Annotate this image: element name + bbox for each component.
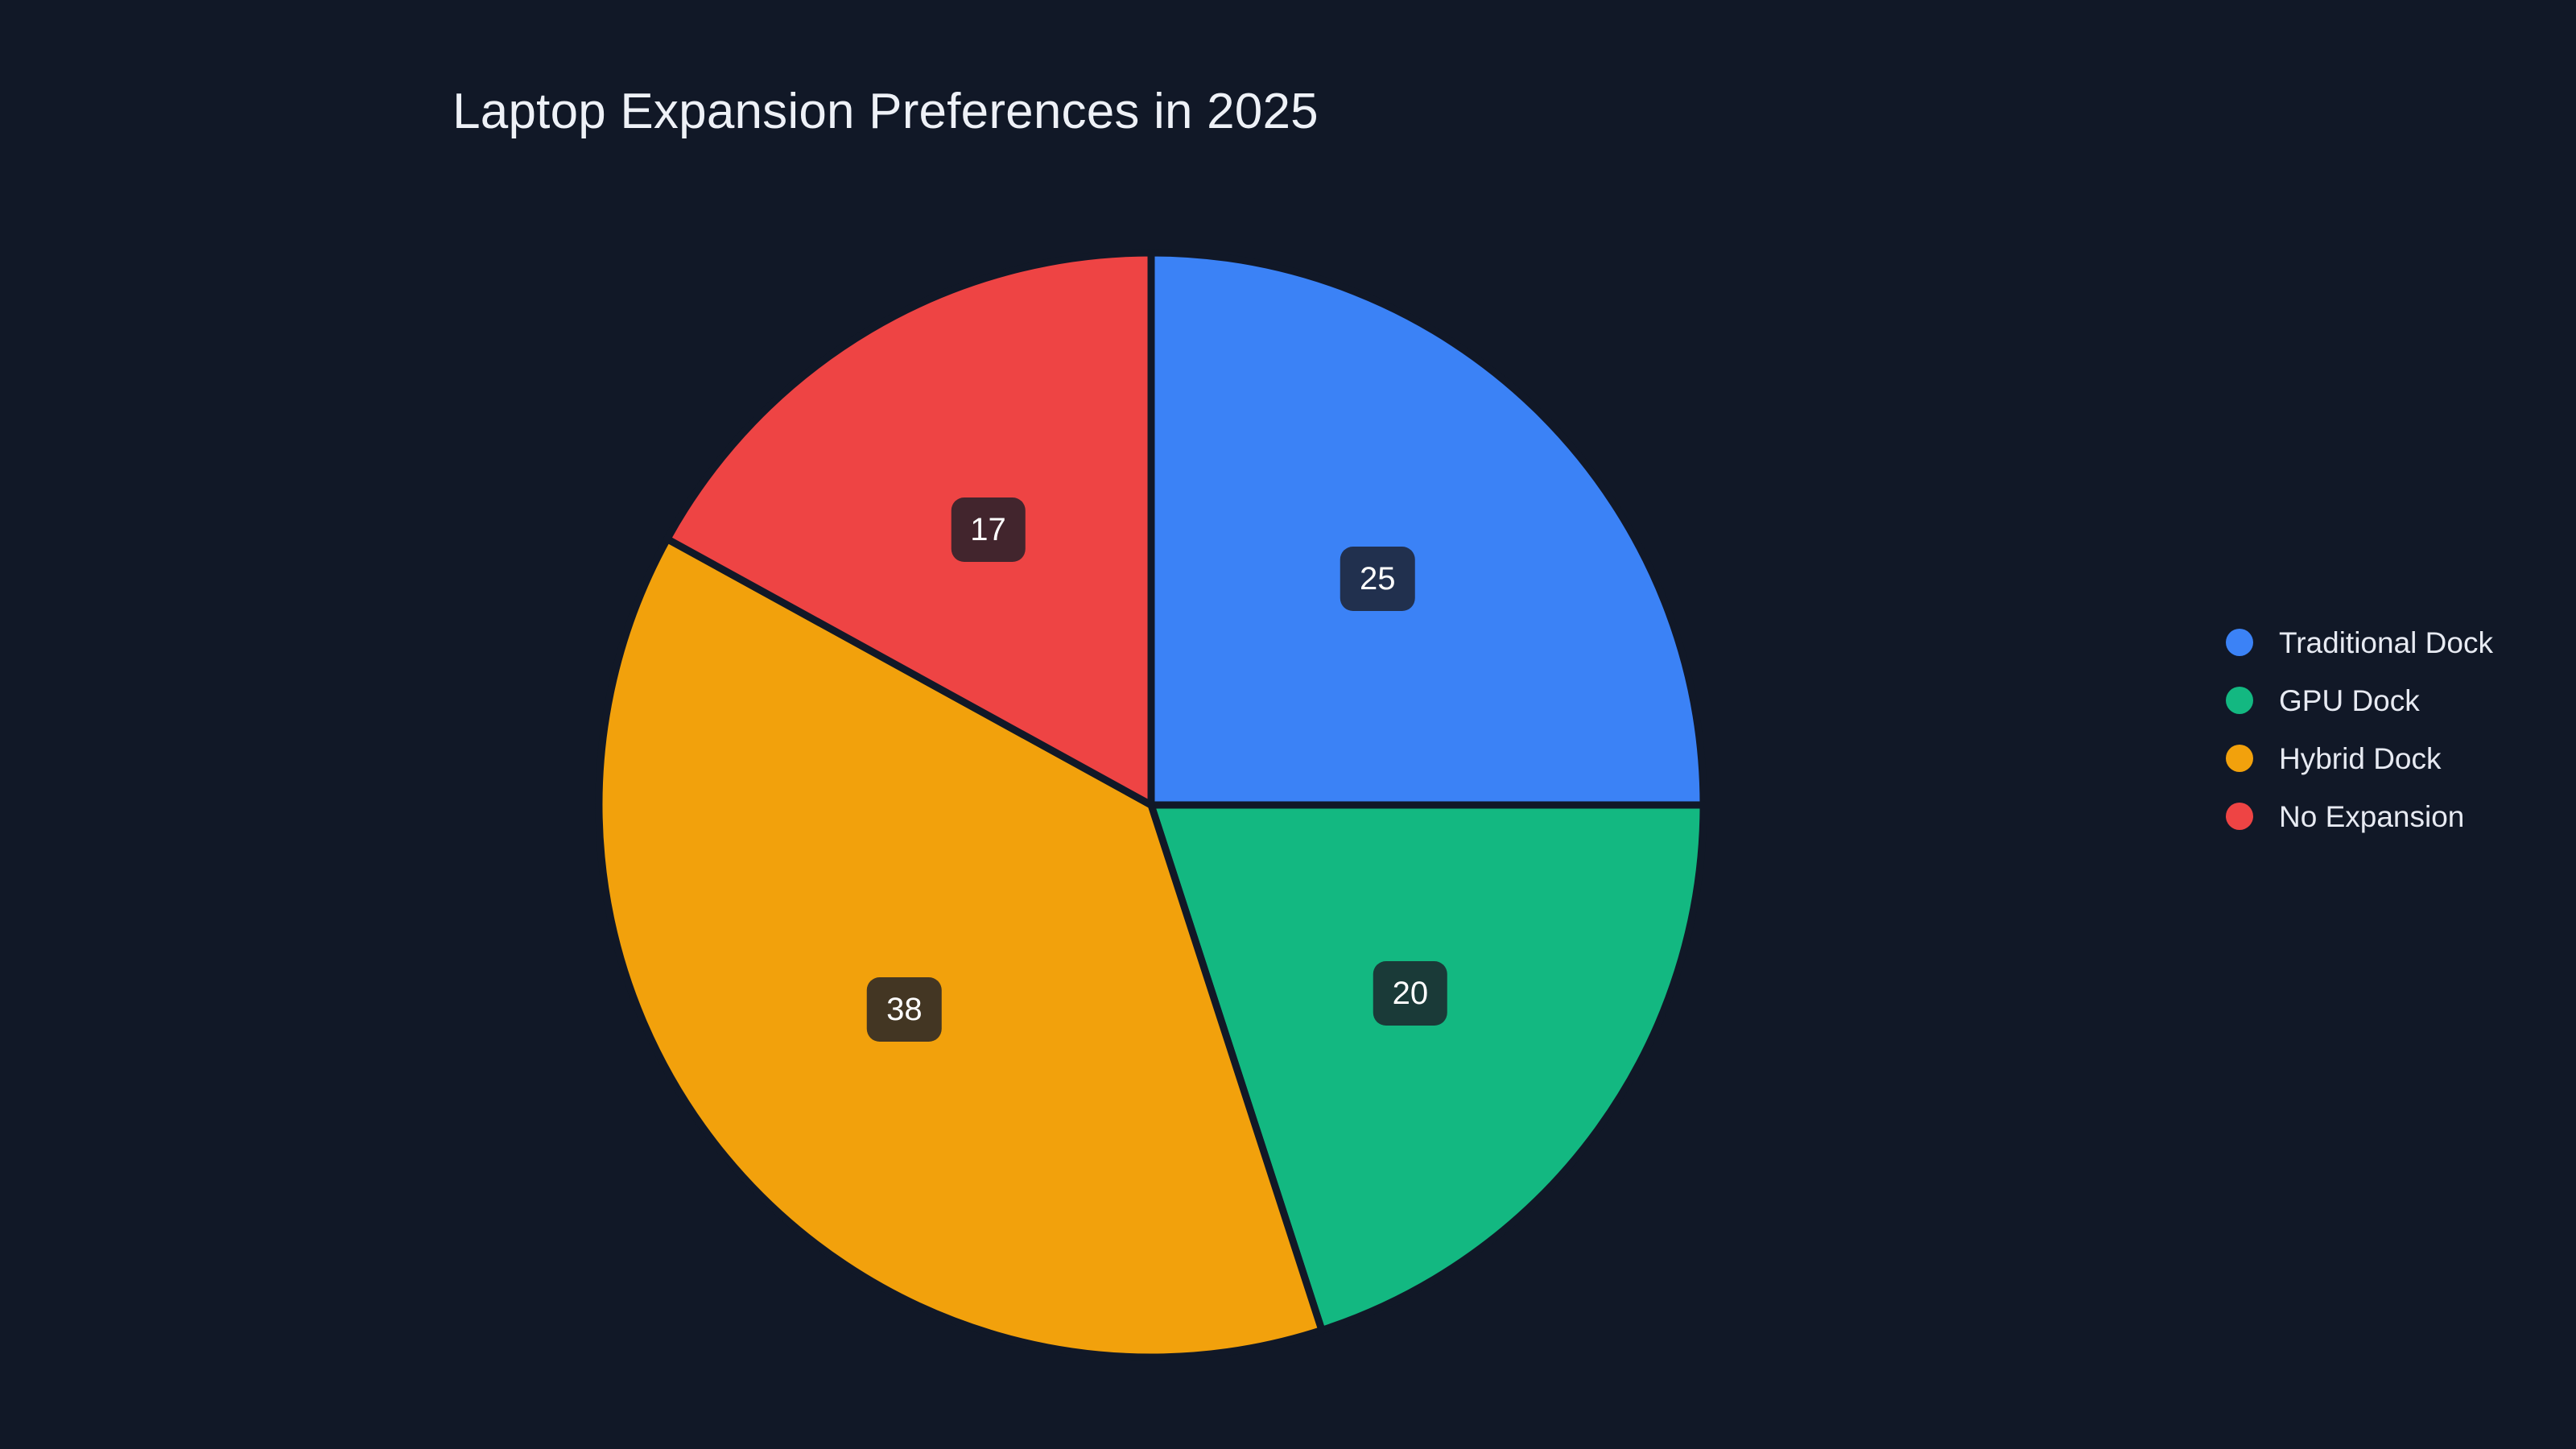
legend-swatch-icon: [2226, 745, 2253, 772]
legend-swatch-icon: [2226, 687, 2253, 714]
pie-slice-value-label: 25: [1340, 547, 1415, 611]
legend-item-label: Traditional Dock: [2279, 628, 2493, 658]
pie-slice[interactable]: [1151, 253, 1703, 805]
pie-slice-value-label: 17: [951, 497, 1026, 562]
pie-slice-value-label: 38: [867, 977, 942, 1042]
chart-legend: Traditional DockGPU DockHybrid DockNo Ex…: [2226, 613, 2493, 845]
legend-item[interactable]: Hybrid Dock: [2226, 729, 2493, 787]
legend-item[interactable]: GPU Dock: [2226, 671, 2493, 729]
pie-plot-area: 25203817: [0, 0, 2576, 1449]
legend-swatch-icon: [2226, 803, 2253, 830]
pie-chart-figure: Laptop Expansion Preferences in 2025 252…: [0, 0, 2576, 1449]
legend-item[interactable]: Traditional Dock: [2226, 613, 2493, 671]
pie-slice-group: [599, 253, 1703, 1357]
legend-item-label: No Expansion: [2279, 802, 2464, 832]
pie-svg: [0, 0, 2576, 1449]
pie-slice-value-label: 20: [1373, 961, 1448, 1026]
legend-item-label: GPU Dock: [2279, 686, 2420, 716]
legend-swatch-icon: [2226, 629, 2253, 656]
legend-item-label: Hybrid Dock: [2279, 744, 2442, 774]
legend-item[interactable]: No Expansion: [2226, 787, 2493, 845]
